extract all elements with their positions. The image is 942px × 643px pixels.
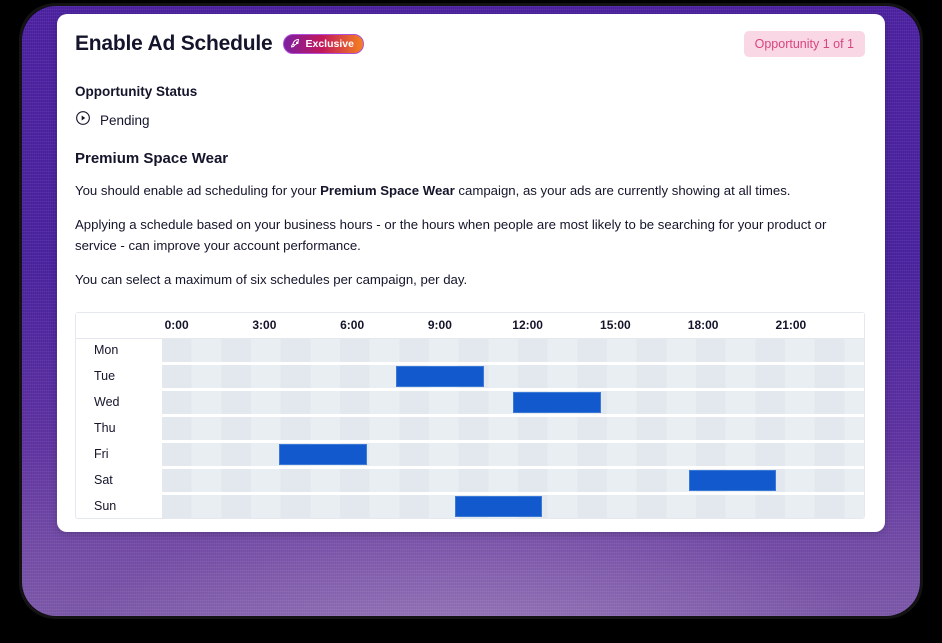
hour-label-18: 18:00 xyxy=(688,318,719,332)
p1-text-after: campaign, as your ads are currently show… xyxy=(455,183,791,198)
hour-label-0: 0:00 xyxy=(165,318,189,332)
hour-label-21: 21:00 xyxy=(776,318,807,332)
schedule-block-sun[interactable] xyxy=(455,496,543,517)
card-header: Enable Ad Schedule Exclusive Opportunity… xyxy=(75,31,865,57)
schedule-day-rows[interactable]: MonTueWedThuFriSatSun xyxy=(76,339,864,518)
hour-label-12: 12:00 xyxy=(512,318,543,332)
opportunity-status-label: Opportunity Status xyxy=(75,84,865,99)
day-label-thu: Thu xyxy=(76,417,162,440)
schedule-block-fri[interactable] xyxy=(279,444,367,465)
p1-campaign-name: Premium Space Wear xyxy=(320,183,455,198)
schedule-row-sun[interactable]: Sun xyxy=(76,495,864,518)
schedule-track-mon[interactable] xyxy=(162,339,864,362)
schedule-track-sun[interactable] xyxy=(162,495,864,518)
body-paragraph-3: You can select a maximum of six schedule… xyxy=(75,270,865,290)
schedule-block-tue[interactable] xyxy=(396,366,484,387)
ad-schedule-grid[interactable]: 0:003:006:009:0012:0015:0018:0021:00 Mon… xyxy=(75,312,865,519)
day-label-fri: Fri xyxy=(76,443,162,466)
day-label-mon: Mon xyxy=(76,339,162,362)
schedule-block-sat[interactable] xyxy=(689,470,777,491)
page-title: Enable Ad Schedule xyxy=(75,32,273,56)
schedule-hour-header: 0:003:006:009:0012:0015:0018:0021:00 xyxy=(76,313,864,339)
hour-label-15: 15:00 xyxy=(600,318,631,332)
schedule-track-fri[interactable] xyxy=(162,443,864,466)
schedule-row-fri[interactable]: Fri xyxy=(76,443,864,466)
body-paragraph-1: You should enable ad scheduling for your… xyxy=(75,181,865,201)
schedule-row-tue[interactable]: Tue xyxy=(76,365,864,388)
schedule-row-mon[interactable]: Mon xyxy=(76,339,864,362)
opportunity-card: Enable Ad Schedule Exclusive Opportunity… xyxy=(57,14,885,532)
opportunity-status-value: Pending xyxy=(100,113,150,128)
opportunity-counter-badge: Opportunity 1 of 1 xyxy=(744,31,865,57)
schedule-track-wed[interactable] xyxy=(162,391,864,414)
hour-label-track: 0:003:006:009:0012:0015:0018:0021:00 xyxy=(162,313,864,338)
exclusive-badge: Exclusive xyxy=(283,34,364,54)
hour-label-9: 9:00 xyxy=(428,318,452,332)
day-label-sun: Sun xyxy=(76,495,162,518)
campaign-name: Premium Space Wear xyxy=(75,150,865,167)
header-left-group: Enable Ad Schedule Exclusive xyxy=(75,32,364,56)
schedule-track-tue[interactable] xyxy=(162,365,864,388)
hour-label-6: 6:00 xyxy=(340,318,364,332)
rocket-icon xyxy=(290,38,302,50)
schedule-row-wed[interactable]: Wed xyxy=(76,391,864,414)
screen: Enable Ad Schedule Exclusive Opportunity… xyxy=(0,0,942,643)
schedule-row-sat[interactable]: Sat xyxy=(76,469,864,492)
play-circle-icon xyxy=(75,110,91,131)
p1-text-before: You should enable ad scheduling for your xyxy=(75,183,320,198)
schedule-track-sat[interactable] xyxy=(162,469,864,492)
day-label-tue: Tue xyxy=(76,365,162,388)
body-paragraph-2: Applying a schedule based on your busine… xyxy=(75,215,865,256)
day-label-wed: Wed xyxy=(76,391,162,414)
exclusive-badge-label: Exclusive xyxy=(306,38,354,50)
day-label-sat: Sat xyxy=(76,469,162,492)
schedule-row-thu[interactable]: Thu xyxy=(76,417,864,440)
hour-label-3: 3:00 xyxy=(252,318,276,332)
opportunity-status-row: Pending xyxy=(75,110,865,131)
schedule-block-wed[interactable] xyxy=(513,392,601,413)
schedule-track-thu[interactable] xyxy=(162,417,864,440)
